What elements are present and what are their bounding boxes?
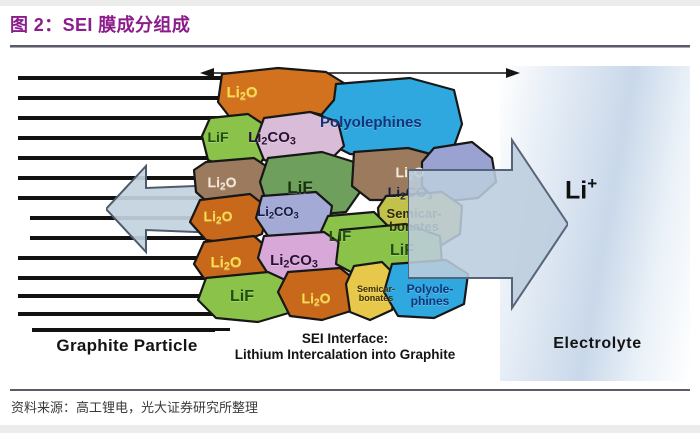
- sei-compound-label-lif: LiF: [260, 179, 340, 196]
- sei-film-diagram: Li2OPolyolephinesLiFLi2CO3Li2OLiFLi2OLi2…: [10, 66, 690, 381]
- sei-compound-label-lif: LiF: [178, 130, 258, 144]
- source-note: 资料来源：高工锂电，光大证券研究所整理: [11, 397, 258, 416]
- sei-compound-label-li2co3: Li2CO3: [232, 130, 312, 148]
- figure-title-block: 图 2：SEI 膜成分组成: [10, 12, 690, 48]
- graphite-particle-label: Graphite Particle: [22, 338, 232, 353]
- sei-compound-label-semicarbonates: Semicar-bonates: [336, 285, 416, 303]
- title-divider: [10, 45, 690, 48]
- sei-compound-label-li2o: Li2O: [276, 291, 356, 309]
- lithium-ion-text: Li: [565, 176, 587, 204]
- sei-compound-label-li2o: Li2O: [182, 175, 262, 193]
- lithium-migration-arrow-right: [408, 134, 568, 314]
- diagram-inner: Li2OPolyolephinesLiFLi2CO3Li2OLiFLi2OLi2…: [10, 66, 690, 381]
- sei-compound-label-li2o: Li2O: [186, 255, 266, 273]
- sei-compound-label-polyolephines: Polyolephines: [320, 115, 400, 130]
- page-bottom-strip: [0, 425, 700, 433]
- sei-interface-line2: Lithium Intercalation into Graphite: [215, 347, 475, 363]
- sei-compound-label-li2co3: Li2CO3: [238, 205, 318, 221]
- electrolyte-label: Electrolyte: [510, 336, 685, 351]
- lithium-ion-label: Li+: [565, 174, 597, 205]
- sei-compound-label-li2co3: Li2CO3: [254, 253, 334, 271]
- footer-divider: [10, 389, 690, 391]
- sei-compound-label-li2o: Li2O: [178, 209, 258, 227]
- sei-interface-label: SEI Interface: Lithium Intercalation int…: [215, 331, 475, 363]
- sei-interface-line1: SEI Interface:: [215, 331, 475, 347]
- page-title: 图 2：SEI 膜成分组成: [10, 12, 690, 38]
- sei-compound-label-lif: LiF: [300, 229, 380, 244]
- page-top-strip: [0, 0, 700, 6]
- sei-compound-label-lif: LiF: [202, 289, 282, 305]
- figure-page: 图 2：SEI 膜成分组成 Li2OPolyolephinesLiFLi2CO3…: [0, 0, 700, 433]
- sei-compound-label-li2o: Li2O: [202, 85, 282, 103]
- lithium-ion-charge: +: [587, 174, 597, 193]
